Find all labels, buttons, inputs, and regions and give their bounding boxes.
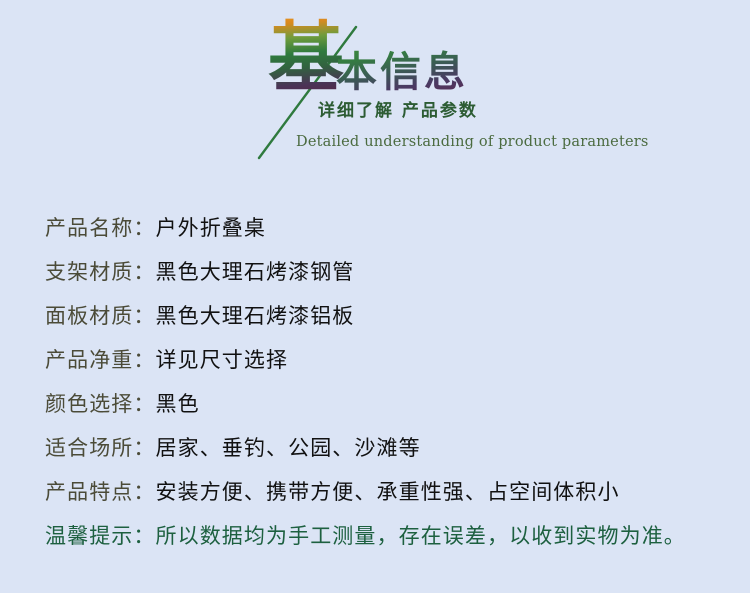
spec-label: 支架材质：: [45, 260, 156, 284]
spec-value: 黑色: [156, 392, 200, 416]
spec-row: 颜色选择：黑色: [0, 382, 750, 426]
spec-row: 适合场所：居家、垂钓、公园、沙滩等: [0, 426, 750, 470]
spec-label: 面板材质：: [45, 304, 156, 328]
spec-row: 面板材质：黑色大理石烤漆铝板: [0, 294, 750, 338]
header-big-character: 基: [268, 17, 344, 99]
spec-row: 产品特点：安装方便、携带方便、承重性强、占空间体积小: [0, 470, 750, 514]
header-tagline-en: Detailed understanding of product parame…: [296, 132, 649, 152]
spec-value: 详见尺寸选择: [156, 348, 289, 372]
product-info-banner: 基 本信息 详细了解 产品参数 Detailed understanding o…: [0, 0, 750, 593]
banner-header: 基 本信息 详细了解 产品参数 Detailed understanding o…: [0, 0, 750, 175]
spec-label: 产品特点：: [45, 480, 156, 504]
spec-value: 户外折叠桌: [156, 216, 267, 240]
spec-row: 温馨提示：所以数据均为手工测量，存在误差，以收到实物为准。: [0, 514, 750, 558]
spec-label: 产品名称：: [45, 216, 156, 240]
spec-value: 所以数据均为手工测量，存在误差，以收到实物为准。: [156, 524, 686, 548]
spec-label: 温馨提示：: [45, 524, 156, 548]
spec-row: 产品名称：户外折叠桌: [0, 206, 750, 250]
specification-list: 产品名称：户外折叠桌支架材质：黑色大理石烤漆钢管面板材质：黑色大理石烤漆铝板产品…: [0, 206, 750, 558]
spec-row: 支架材质：黑色大理石烤漆钢管: [0, 250, 750, 294]
spec-value: 安装方便、携带方便、承重性强、占空间体积小: [156, 480, 620, 504]
spec-value: 黑色大理石烤漆铝板: [156, 304, 355, 328]
spec-label: 颜色选择：: [45, 392, 156, 416]
header-tagline-cn: 详细了解 产品参数: [318, 100, 478, 122]
spec-value: 黑色大理石烤漆钢管: [156, 260, 355, 284]
header-subtitle-cn: 本信息: [336, 48, 468, 96]
spec-label: 产品净重：: [45, 348, 156, 372]
spec-label: 适合场所：: [45, 436, 156, 460]
spec-row: 产品净重：详见尺寸选择: [0, 338, 750, 382]
spec-value: 居家、垂钓、公园、沙滩等: [156, 436, 421, 460]
